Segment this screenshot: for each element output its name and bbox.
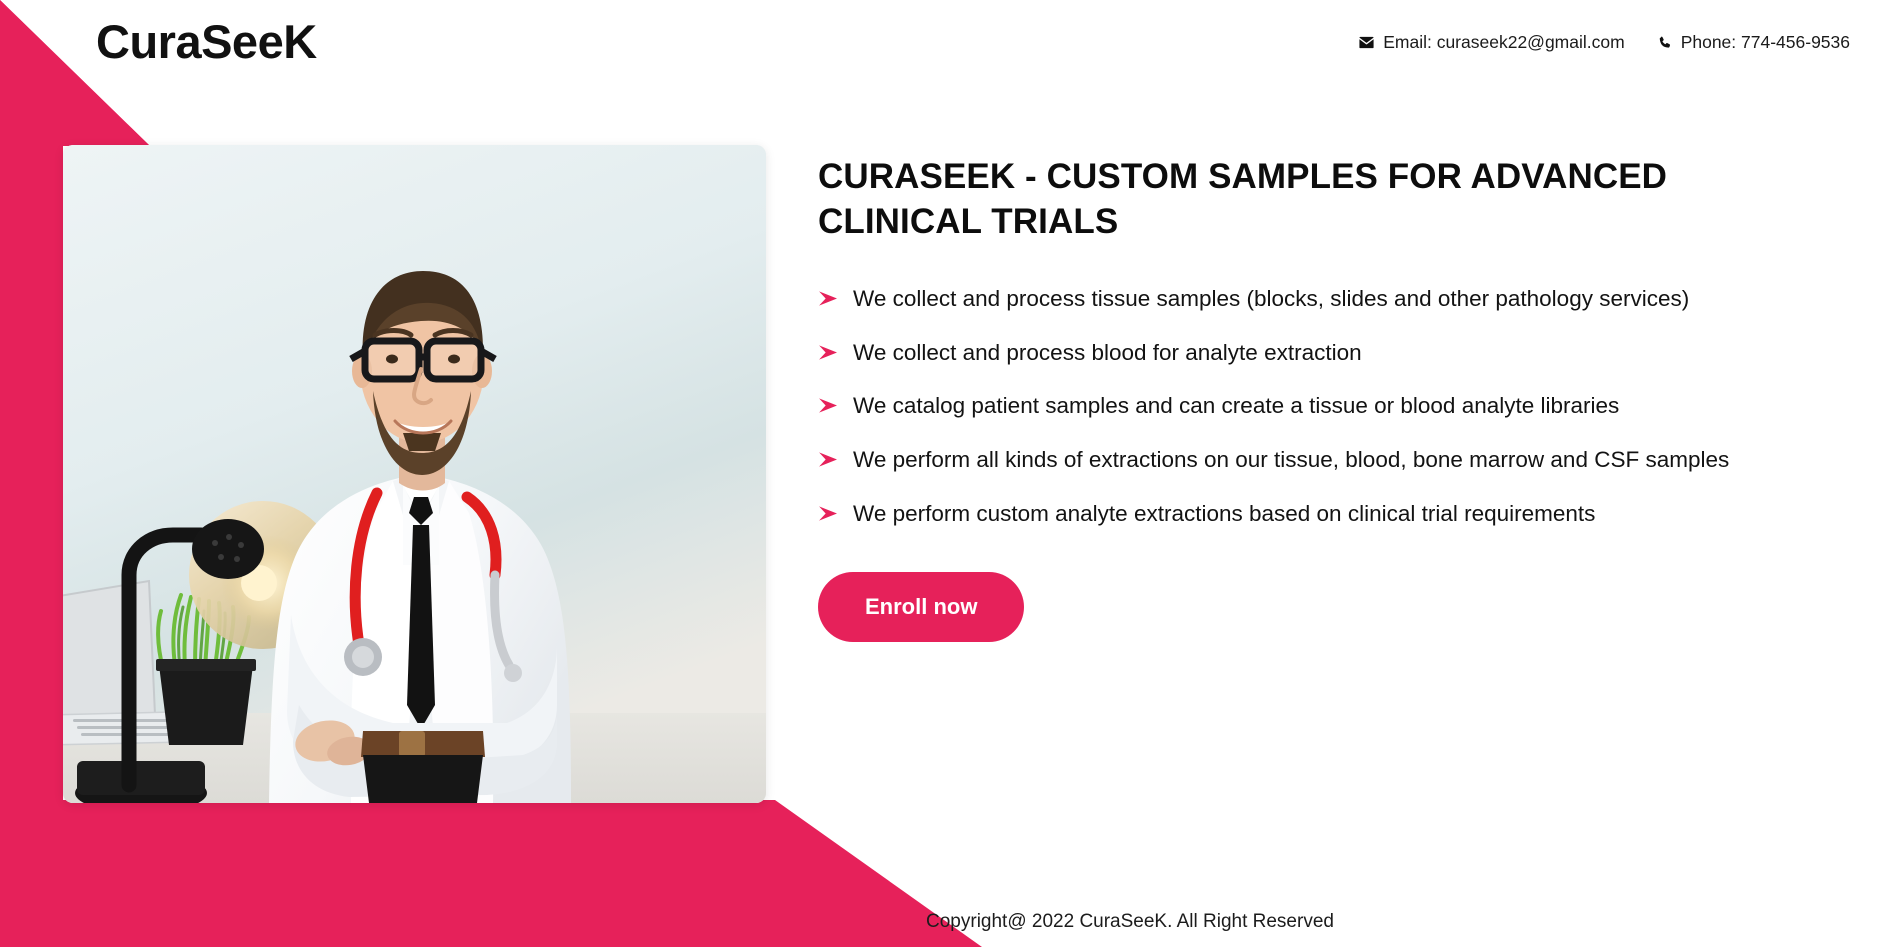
- list-item-label: We collect and process blood for analyte…: [853, 337, 1362, 369]
- list-item: We perform custom analyte extractions ba…: [818, 498, 1858, 530]
- site-footer: Copyright@ 2022 CuraSeeK. All Right Rese…: [0, 911, 1900, 933]
- list-item-label: We perform all kinds of extractions on o…: [853, 444, 1729, 476]
- list-item-label: We catalog patient samples and can creat…: [853, 390, 1619, 422]
- brand-logo[interactable]: CuraSeeK: [96, 14, 317, 70]
- envelope-icon: [1358, 34, 1375, 51]
- phone-icon: [1657, 35, 1673, 51]
- contact-phone-label: Phone: 774-456-9536: [1681, 32, 1850, 53]
- contact-email-label: Email: curaseek22@gmail.com: [1383, 32, 1624, 53]
- doctor-photo: [63, 145, 766, 803]
- arrow-right-icon: [818, 397, 839, 418]
- list-item: We perform all kinds of extractions on o…: [818, 444, 1858, 476]
- list-item: We collect and process blood for analyte…: [818, 337, 1858, 369]
- site-header: CuraSeeK Email: curaseek22@gmail.com: [0, 0, 1900, 100]
- hero-content: CURASEEK - CUSTOM SAMPLES FOR ADVANCED C…: [818, 155, 1858, 642]
- enroll-now-button[interactable]: Enroll now: [818, 572, 1024, 642]
- list-item: We collect and process tissue samples (b…: [818, 283, 1858, 315]
- list-item-label: We perform custom analyte extractions ba…: [853, 498, 1595, 530]
- contact-email[interactable]: Email: curaseek22@gmail.com: [1358, 32, 1624, 53]
- list-item-label: We collect and process tissue samples (b…: [853, 283, 1689, 315]
- contact-phone[interactable]: Phone: 774-456-9536: [1657, 32, 1850, 53]
- arrow-right-icon: [818, 290, 839, 311]
- copyright-text: Copyright@ 2022 CuraSeeK. All Right Rese…: [926, 911, 1334, 933]
- feature-list: We collect and process tissue samples (b…: [818, 283, 1858, 531]
- arrow-right-icon: [818, 344, 839, 365]
- list-item: We catalog patient samples and can creat…: [818, 390, 1858, 422]
- arrow-right-icon: [818, 505, 839, 526]
- contact-bar: Email: curaseek22@gmail.com Phone: 774-4…: [1358, 32, 1850, 53]
- arrow-right-icon: [818, 451, 839, 472]
- landing-page: CuraSeeK Email: curaseek22@gmail.com: [0, 0, 1900, 947]
- page-title: CURASEEK - CUSTOM SAMPLES FOR ADVANCED C…: [818, 155, 1758, 245]
